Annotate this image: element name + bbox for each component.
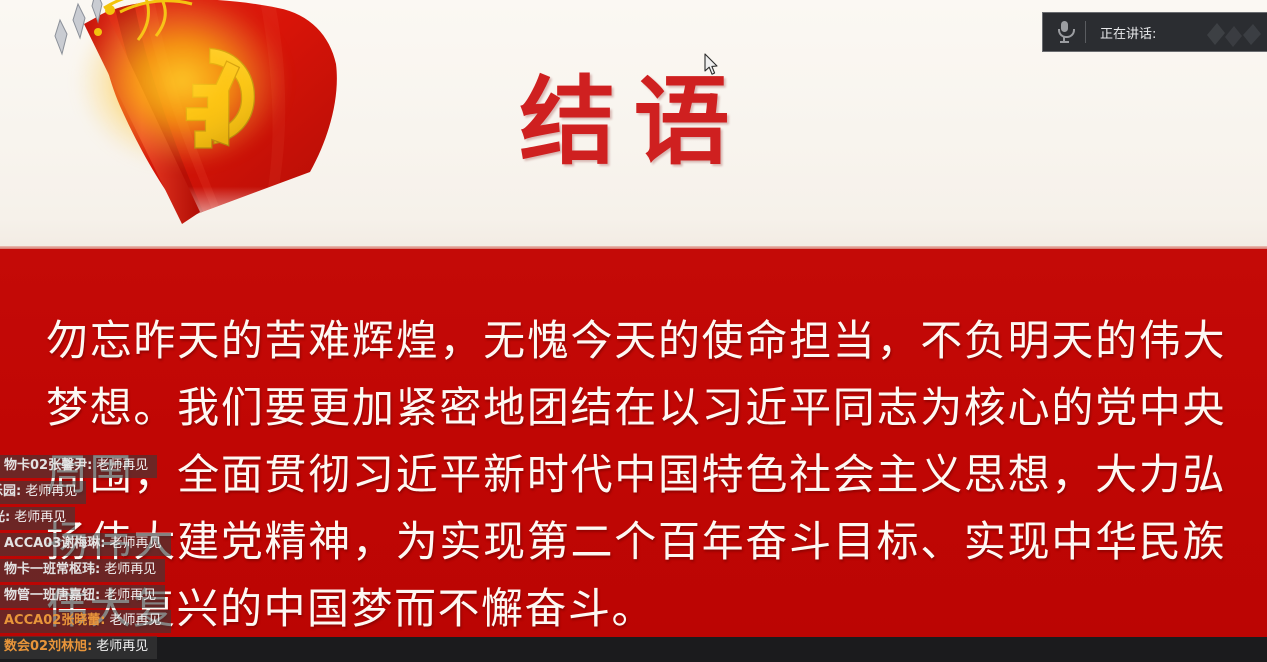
slide-title: 结语 xyxy=(0,74,1267,170)
slide-body-panel: 勿忘昨天的苦难辉煌，无愧今天的使命担当，不负明天的伟大梦想。我们要更加紧密地团结… xyxy=(0,249,1267,637)
speaking-label: 正在讲话: xyxy=(1086,23,1156,42)
screen-capture: 结语 勿忘昨天的苦难辉煌，无愧今天的使命担当，不负明天的伟大梦想。我们要更加紧密… xyxy=(0,0,1267,662)
slide-body-text: 勿忘昨天的苦难辉煌，无愧今天的使命担当，不负明天的伟大梦想。我们要更加紧密地团结… xyxy=(46,307,1226,642)
speaking-indicator[interactable]: 正在讲话: xyxy=(1042,12,1267,52)
watermark-icon xyxy=(1201,19,1261,47)
bottom-bar xyxy=(0,637,1267,662)
mouse-pointer-icon xyxy=(703,53,719,77)
microphone-icon[interactable] xyxy=(1043,21,1085,43)
